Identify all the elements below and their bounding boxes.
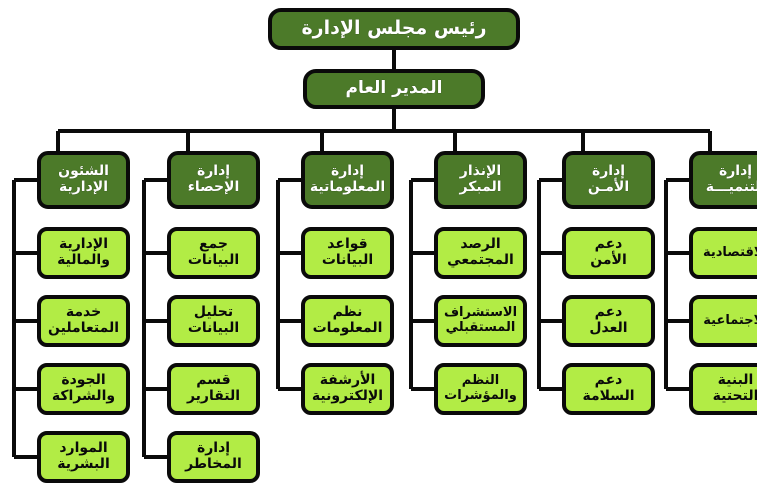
node-dept-head-development[interactable]: إدارة التنميـــة [689, 151, 757, 209]
node-chairman-of-the-board[interactable]: رئيس مجلس الإدارة [268, 8, 520, 50]
node-label-line1: الاجتماعية [703, 314, 757, 329]
node-label-line2: البيانات [188, 321, 239, 337]
node-child-data-analysis[interactable]: تحليل البيانات [167, 295, 260, 347]
node-label-line1: إدارة [719, 164, 752, 180]
node-label-line1: الاقتصادية [703, 246, 757, 261]
node-child-economic[interactable]: الاقتصادية [689, 227, 757, 279]
node-child-social[interactable]: الاجتماعية [689, 295, 757, 347]
node-child-justice-support[interactable]: دعم العدل [562, 295, 655, 347]
node-label: المدير العام [346, 79, 443, 98]
node-label-line2: التقارير [187, 389, 240, 405]
node-child-risk-management[interactable]: إدارة المخاطر [167, 431, 260, 483]
node-label-line1: الأرشفة [320, 373, 376, 389]
node-dept-head-administrative-affairs[interactable]: الشئون الإدارية [37, 151, 130, 209]
node-label-line2: البيانات [188, 253, 239, 269]
node-label-line1: دعم [595, 373, 623, 389]
node-label-line2: البشرية [57, 457, 109, 473]
node-label-line2: المبكر [460, 180, 502, 196]
node-child-infrastructure[interactable]: البنية التحتية [689, 363, 757, 415]
node-label-line1: دعم [595, 305, 623, 321]
node-label-line1: الإنذار [460, 164, 501, 180]
node-label: رئيس مجلس الإدارة [301, 18, 486, 39]
node-label-line1: تحليل [194, 305, 233, 321]
node-label-line1: النظم [462, 374, 500, 389]
node-label-line2: العدل [589, 321, 627, 337]
node-label-line2: الإدارية [59, 180, 108, 196]
node-dept-head-statistics[interactable]: إدارة الإحصاء [167, 151, 260, 209]
node-label-line1: قواعد [327, 237, 367, 253]
node-child-human-resources[interactable]: الموارد البشرية [37, 431, 130, 483]
node-label-line2: المخاطر [185, 457, 242, 473]
org-chart: رئيس مجلس الإدارة المدير العام الشئون ال… [0, 0, 757, 488]
node-child-electronic-archiving[interactable]: الأرشفة الإلكترونية [301, 363, 394, 415]
node-general-manager[interactable]: المدير العام [303, 69, 485, 109]
node-label-line1: جمع [199, 237, 228, 253]
node-label-line1: الرصد [460, 237, 500, 253]
node-label-line2: المعلومات [313, 321, 383, 337]
node-label-line1: قسم [196, 373, 230, 389]
node-label-line2: التنميـــة [706, 180, 757, 196]
node-child-foresight[interactable]: الاستشراف المستقبلي [434, 295, 527, 347]
node-label-line2: الإحصاء [188, 180, 240, 196]
node-label-line2: والمؤشرات [444, 389, 517, 404]
node-label-line2: التحتية [713, 389, 757, 405]
node-label-line2: المعلوماتية [310, 180, 385, 196]
node-child-customer-service[interactable]: خدمة المتعاملين [37, 295, 130, 347]
node-label-line2: والمالية [57, 253, 110, 269]
node-label-line1: إدارة [197, 164, 230, 180]
node-label-line2: البيانات [322, 253, 373, 269]
node-child-reports-section[interactable]: قسم التقارير [167, 363, 260, 415]
node-child-systems-indicators[interactable]: النظم والمؤشرات [434, 363, 527, 415]
node-label-line2: الأمـن [588, 180, 629, 196]
node-child-databases[interactable]: قواعد البيانات [301, 227, 394, 279]
node-child-admin-finance[interactable]: الإدارية والمالية [37, 227, 130, 279]
node-dept-head-early-warning[interactable]: الإنذار المبكر [434, 151, 527, 209]
node-label-line1: إدارة [592, 164, 625, 180]
node-label-line1: دعم [595, 237, 623, 253]
node-label-line1: الإدارية [59, 237, 108, 253]
node-label-line2: والشراكة [52, 389, 115, 405]
node-child-safety-support[interactable]: دعم السلامة [562, 363, 655, 415]
node-label-line1: الاستشراف [444, 306, 517, 321]
node-child-information-systems[interactable]: نظم المعلومات [301, 295, 394, 347]
node-label-line2: المجتمعي [447, 253, 514, 269]
node-label-line2: المستقبلي [446, 321, 516, 336]
node-dept-head-informatics[interactable]: إدارة المعلوماتية [301, 151, 394, 209]
node-child-community-monitoring[interactable]: الرصد المجتمعي [434, 227, 527, 279]
node-label-line1: خدمة [66, 305, 101, 321]
node-child-quality-partnership[interactable]: الجودة والشراكة [37, 363, 130, 415]
node-child-security-support[interactable]: دعم الأمن [562, 227, 655, 279]
node-label-line1: إدارة [331, 164, 364, 180]
node-label-line2: السلامة [582, 389, 634, 405]
node-label-line1: نظم [333, 305, 363, 321]
node-label-line1: الموارد [59, 441, 107, 457]
node-label-line1: البنية [718, 373, 754, 389]
node-label-line2: الإلكترونية [312, 389, 383, 405]
node-label-line1: الجودة [61, 373, 105, 389]
node-label-line2: الأمن [590, 253, 627, 269]
node-label-line2: المتعاملين [48, 321, 119, 337]
node-label-line1: إدارة [197, 441, 230, 457]
node-child-data-collection[interactable]: جمع البيانات [167, 227, 260, 279]
node-dept-head-security[interactable]: إدارة الأمـن [562, 151, 655, 209]
node-label-line1: الشئون [58, 164, 109, 180]
